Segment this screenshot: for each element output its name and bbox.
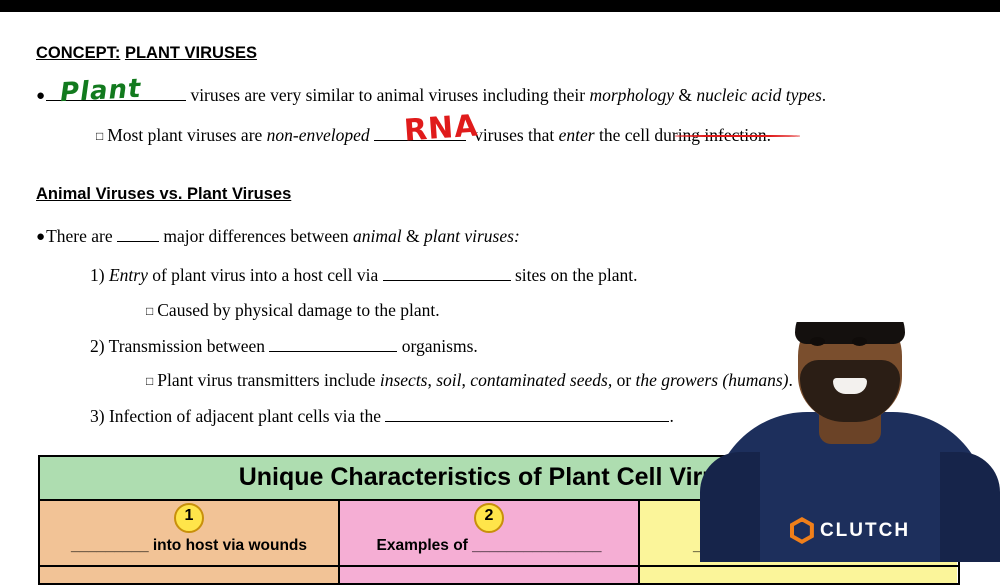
item2-sub-c: ,	[462, 370, 471, 390]
presenter-eyebrow-left	[806, 328, 828, 334]
hexagon-icon	[790, 517, 814, 544]
bullet-dot-icon-2: ●	[36, 229, 45, 246]
item1-num: 1)	[90, 265, 105, 285]
table-body-cell-1	[40, 567, 340, 583]
sub1-text-b: viruses that	[470, 125, 559, 145]
clutch-wordmark: CLUTCH	[820, 520, 910, 542]
table-badge-1-wrap: 1	[40, 503, 338, 531]
bullet2-text-a: There are	[46, 226, 117, 246]
badge-1: 1	[174, 503, 204, 533]
bullet1-italic-1: morphology	[589, 85, 674, 105]
item2-num: 2)	[90, 336, 105, 356]
square-bullet-icon-3: □	[146, 374, 153, 389]
item1-sub-text: Caused by physical damage to the plant.	[157, 300, 439, 320]
presenter-eyebrow-right	[848, 328, 870, 334]
blank-fill-4	[383, 264, 511, 281]
section-heading-2-text: Animal Viruses vs. Plant Viruses	[36, 185, 291, 203]
bullet1-text-b: .	[822, 85, 826, 105]
presenter-mouth	[833, 378, 867, 394]
numbered-item-1: 1) Entry of plant virus into a host cell…	[90, 264, 637, 286]
presenter-eye-left	[810, 337, 825, 346]
numbered-item-2: 2) Transmission between organisms.	[90, 335, 478, 357]
blank-fill-3	[117, 225, 159, 242]
bullet2-italic-2: plant viruses:	[424, 226, 520, 246]
numbered-item-2-sub: □Plant virus transmitters include insect…	[146, 370, 793, 391]
item2-sub-b: ,	[428, 370, 437, 390]
bullet-line-1: ● viruses are very similar to animal vir…	[36, 84, 826, 106]
table-badge-2-wrap: 2	[340, 503, 638, 531]
red-underline-mark	[675, 135, 800, 137]
sub1-italic-2: enter	[559, 125, 595, 145]
bullet-dot-icon: ●	[36, 88, 45, 105]
section-heading-2: Animal Viruses vs. Plant Viruses	[36, 185, 291, 204]
item1-text-b: sites on the plant.	[511, 265, 638, 285]
item1-text-a: of plant virus into a host cell via	[148, 265, 383, 285]
handwriting-rna: RNA	[403, 108, 480, 148]
table-column-2-label: Examples of _______________	[340, 531, 638, 565]
bullet1-amp: &	[674, 85, 696, 105]
sub1-italic-1: non-enveloped	[267, 125, 370, 145]
top-black-bar	[0, 0, 1000, 12]
bullet1-text-a: viruses are very similar to animal virus…	[190, 85, 589, 105]
bullet1-italic-2: nucleic acid types	[696, 85, 821, 105]
item3-text-a: Infection of adjacent plant cells via th…	[109, 406, 385, 426]
concept-heading-label: CONCEPT:	[36, 44, 120, 62]
item1-italic: Entry	[109, 265, 148, 285]
handwriting-plant: Plant	[59, 74, 142, 108]
clutch-logo: CLUTCH	[790, 517, 910, 544]
blank-fill-6	[385, 405, 669, 422]
item3-text-b: .	[669, 406, 673, 426]
table-column-1-label: _________ into host via wounds	[40, 531, 338, 565]
table-body-cell-2	[340, 567, 640, 583]
concept-heading-title: PLANT VIRUSES	[125, 44, 257, 62]
item2-text-a: Transmission between	[109, 336, 270, 356]
square-bullet-icon: □	[96, 129, 103, 144]
bullet2-italic-1: animal	[353, 226, 402, 246]
item2-sub-d: or	[612, 370, 635, 390]
table-body-cell-3	[640, 567, 957, 583]
item2-text-b: organisms.	[397, 336, 477, 356]
concept-heading: CONCEPT: PLANT VIRUSES	[36, 44, 257, 63]
blank-fill-5	[269, 335, 397, 352]
table-column-1: 1 _________ into host via wounds	[40, 501, 340, 565]
bullet-line-2: ●There are major differences between ani…	[36, 225, 520, 247]
item2-sub-i1: insects	[380, 370, 428, 390]
item3-num: 3)	[90, 406, 105, 426]
presenter-eye-right	[852, 337, 867, 346]
slide-page: CONCEPT: PLANT VIRUSES ● viruses are ver…	[0, 12, 1000, 562]
numbered-item-3: 3) Infection of adjacent plant cells via…	[90, 405, 674, 427]
bullet2-amp: &	[402, 226, 424, 246]
item2-sub-i2: soil	[436, 370, 461, 390]
badge-2: 2	[474, 503, 504, 533]
presenter-video-overlay: CLUTCH	[700, 322, 1000, 562]
sub1-text-a: Most plant viruses are	[107, 125, 266, 145]
item2-sub-i3: contaminated seeds,	[470, 370, 612, 390]
presenter-shoulder-left	[700, 452, 760, 562]
square-bullet-icon-2: □	[146, 304, 153, 319]
table-column-2: 2 Examples of _______________	[340, 501, 640, 565]
table-body-row	[40, 565, 958, 583]
item2-sub-a: Plant virus transmitters include	[157, 370, 380, 390]
presenter-shoulder-right	[940, 452, 1000, 562]
numbered-item-1-sub: □Caused by physical damage to the plant.	[146, 300, 440, 321]
bullet2-text-b: major differences between	[159, 226, 353, 246]
